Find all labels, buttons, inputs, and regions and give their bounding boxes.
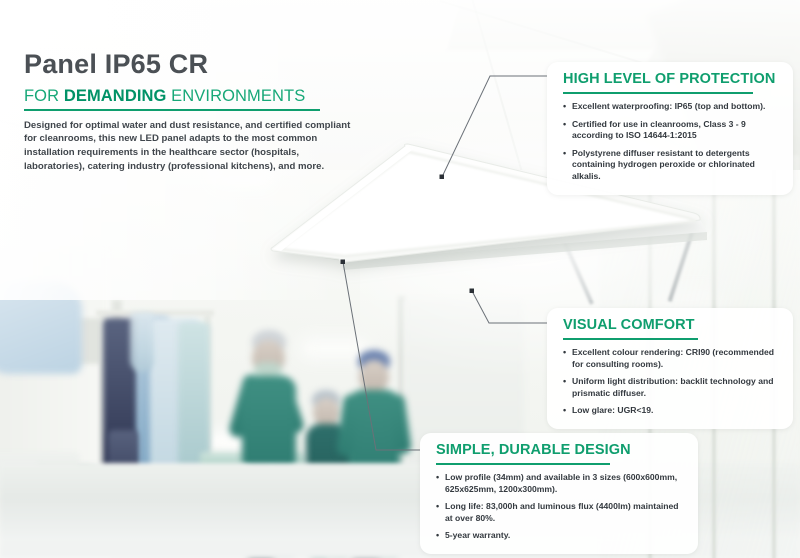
callout-title: SIMPLE, DURABLE DESIGN xyxy=(436,443,684,459)
subtitle: FOR DEMANDING ENVIRONMENTS xyxy=(24,87,374,106)
callout-bullet: Certified for use in cleanrooms, Class 3… xyxy=(563,119,779,142)
callout-bullet: 5-year warranty. xyxy=(436,530,684,542)
subtitle-pre: FOR xyxy=(24,87,64,105)
callout-bullet: Uniform light distribution: backlit tech… xyxy=(563,376,779,399)
callout-bullet: Excellent colour rendering: CRI90 (recom… xyxy=(563,347,779,370)
callout-title: HIGH LEVEL OF PROTECTION xyxy=(563,72,779,88)
callout-bullet: Excellent waterproofing: IP65 (top and b… xyxy=(563,101,779,113)
callout-bullet: Polystyrene diffuser resistant to deterg… xyxy=(563,148,779,183)
callout-card-comfort: VISUAL COMFORT Excellent colour renderin… xyxy=(547,308,793,429)
leader-line-protection xyxy=(442,76,547,177)
leader-line-design xyxy=(343,262,420,450)
page-title: Panel IP65 CR xyxy=(24,50,374,80)
callout-card-protection: HIGH LEVEL OF PROTECTION Excellent water… xyxy=(547,62,793,195)
product-marketing-banner: Panel IP65 CR FOR DEMANDING ENVIRONMENTS… xyxy=(0,0,800,558)
subtitle-underline xyxy=(24,109,320,111)
subtitle-post: ENVIRONMENTS xyxy=(166,87,305,105)
callout-bullet: Low profile (34mm) and available in 3 si… xyxy=(436,472,684,495)
callout-bullet: Low glare: UGR<19. xyxy=(563,405,779,417)
headline-block: Panel IP65 CR FOR DEMANDING ENVIRONMENTS… xyxy=(24,50,374,173)
callout-card-design: SIMPLE, DURABLE DESIGN Low profile (34mm… xyxy=(420,433,698,554)
callout-bullet: Long life: 83,000h and luminous flux (44… xyxy=(436,501,684,524)
subtitle-bold: DEMANDING xyxy=(64,87,167,105)
callout-bullet-list: Excellent colour rendering: CRI90 (recom… xyxy=(563,347,779,417)
callout-bullet-list: Excellent waterproofing: IP65 (top and b… xyxy=(563,101,779,183)
intro-description: Designed for optimal water and dust resi… xyxy=(24,119,354,173)
callout-bullet-list: Low profile (34mm) and available in 3 si… xyxy=(436,472,684,542)
callout-underline xyxy=(436,463,610,465)
callout-underline xyxy=(563,338,698,340)
leader-dot-comfort xyxy=(470,289,475,294)
callout-title: VISUAL COMFORT xyxy=(563,318,779,334)
leader-dots xyxy=(341,175,475,294)
leader-dot-design xyxy=(341,260,346,265)
leader-dot-protection xyxy=(440,175,445,180)
leader-line-comfort xyxy=(472,291,547,323)
callout-underline xyxy=(563,92,753,94)
